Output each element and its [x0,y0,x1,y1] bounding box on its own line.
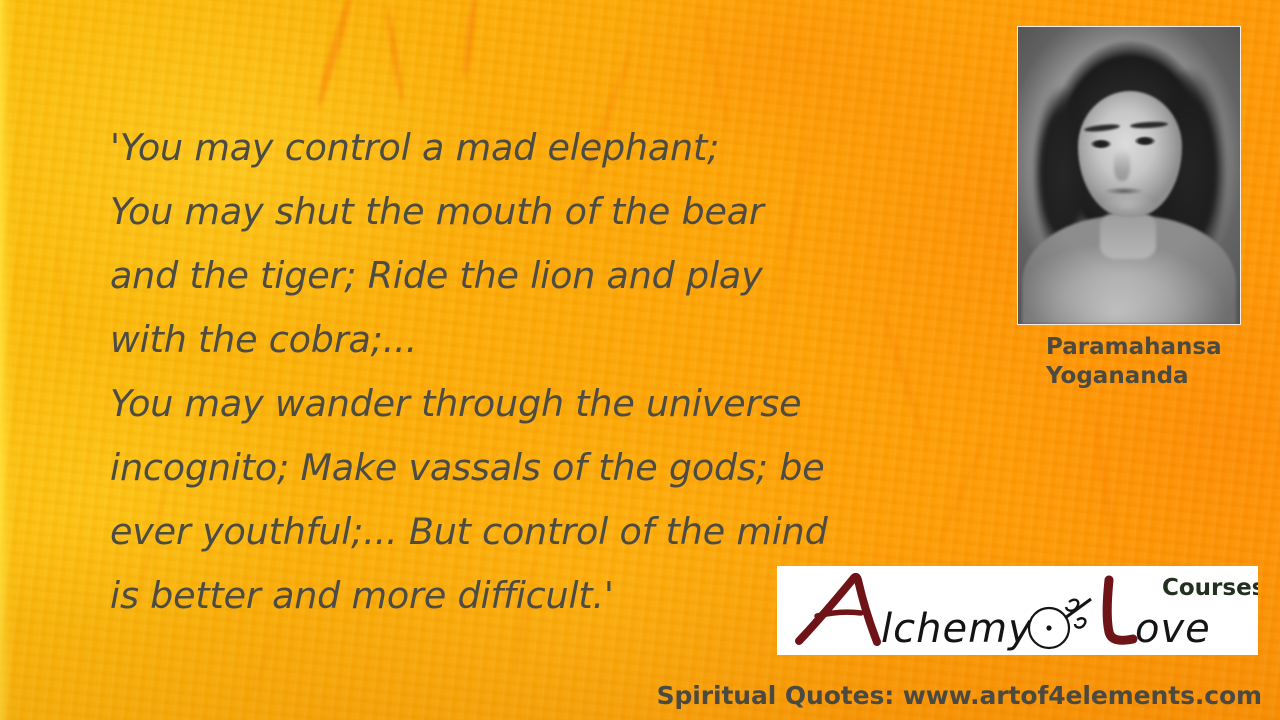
logo-letter-a-icon [799,577,877,642]
quote-text: 'You may control a mad elephant; You may… [110,116,990,628]
quote-line: ever youthful;... But control of the min… [110,500,990,564]
portrait-image [1018,27,1240,324]
logo-artwork: lchemy ove Courses [777,566,1258,655]
alchemy-of-love-logo[interactable]: lchemy ove Courses Alchemy of [777,566,1258,655]
quote-line: You may wander through the universe [110,372,990,436]
attribution-line: Yogananda [1046,362,1276,391]
logo-word-ove: ove [1135,606,1211,652]
portrait-vignette [1018,27,1240,324]
footer: Spiritual Quotes: www.artof4elements.com [0,681,1262,710]
attribution-line: Paramahansa [1046,333,1276,362]
logo-of-symbol-icon [1029,599,1091,648]
quote-line: and the tiger; Ride the lion and play [110,244,990,308]
footer-credit-text[interactable]: Spiritual Quotes: www.artof4elements.com [657,681,1262,710]
attribution: Paramahansa Yogananda [1046,333,1276,391]
portrait-photo [1017,26,1241,325]
logo-word-lchemy: lchemy [881,606,1033,652]
svg-text:ove: ove [1135,606,1211,652]
quote-line: incognito; Make vassals of the gods; be [110,436,990,500]
logo-courses-label: Courses [1162,575,1258,601]
svg-text:lchemy: lchemy [881,606,1033,652]
quote-line: with the cobra;... [110,308,990,372]
quote-line: You may shut the mouth of the bear [110,180,990,244]
logo-letter-l-icon [1107,580,1133,640]
quote-line: 'You may control a mad elephant; [110,116,990,180]
svg-text:Courses: Courses [1162,575,1258,601]
quote-poster: 'You may control a mad elephant; You may… [0,0,1280,720]
